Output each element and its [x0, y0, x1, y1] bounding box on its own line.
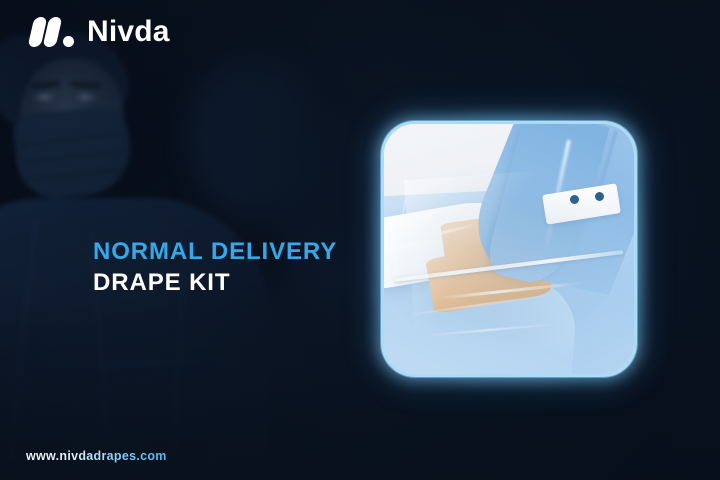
headline-block: NORMAL DELIVERY DRAPE KIT	[93, 238, 337, 297]
nivda-mark-icon	[30, 17, 76, 47]
product-photo	[384, 124, 634, 374]
headline-line-2: DRAPE KIT	[93, 269, 337, 297]
card-frame	[381, 121, 637, 377]
headline-line-1: NORMAL DELIVERY	[93, 238, 337, 266]
logo-dot	[63, 36, 74, 47]
photo-soft-shadow	[384, 124, 634, 374]
brand-name: Nivda	[87, 17, 170, 47]
brand-logo[interactable]: Nivda	[30, 17, 170, 47]
promo-banner: Nivda NORMAL DELIVERY DRAPE KIT www.nivd…	[0, 0, 720, 480]
product-image-card[interactable]	[381, 121, 637, 377]
website-url[interactable]: www.nivdadrapes.com	[26, 449, 167, 463]
